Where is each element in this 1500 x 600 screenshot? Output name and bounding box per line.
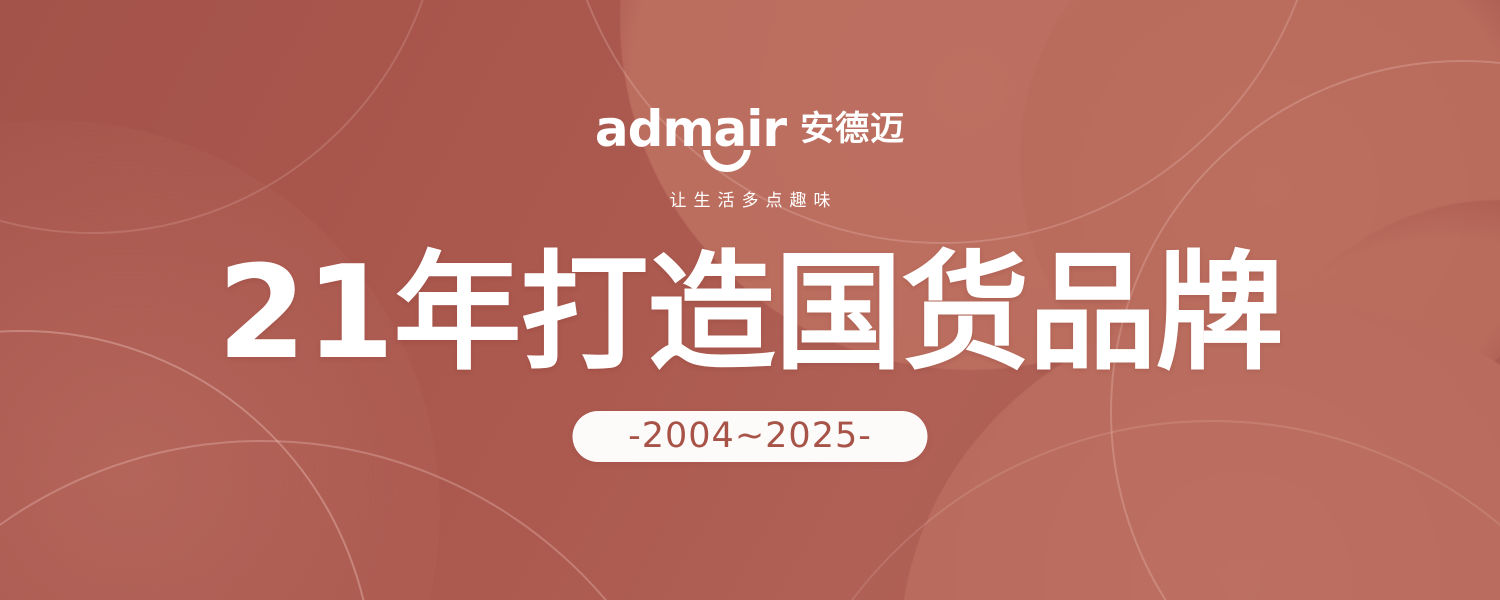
page-title: 21年打造国货品牌: [217, 250, 1282, 378]
year-range-label: -2004~2025-: [628, 419, 872, 454]
brand-logo: admair 安德迈: [595, 104, 905, 154]
promo-banner: admair 安德迈 让生活多点趣味 21年打造国货品牌 -2004~2025-: [0, 0, 1500, 600]
smile-arc-icon: [703, 150, 751, 174]
year-range-badge: -2004~2025-: [573, 411, 928, 462]
logo-wordmark: admair: [595, 104, 786, 154]
logo-mark: admair: [595, 104, 786, 154]
logo-chinese-name: 安德迈: [800, 112, 905, 146]
banner-content: admair 安德迈 让生活多点趣味 21年打造国货品牌 -2004~2025-: [0, 0, 1500, 600]
brand-tagline: 让生活多点趣味: [663, 186, 838, 211]
